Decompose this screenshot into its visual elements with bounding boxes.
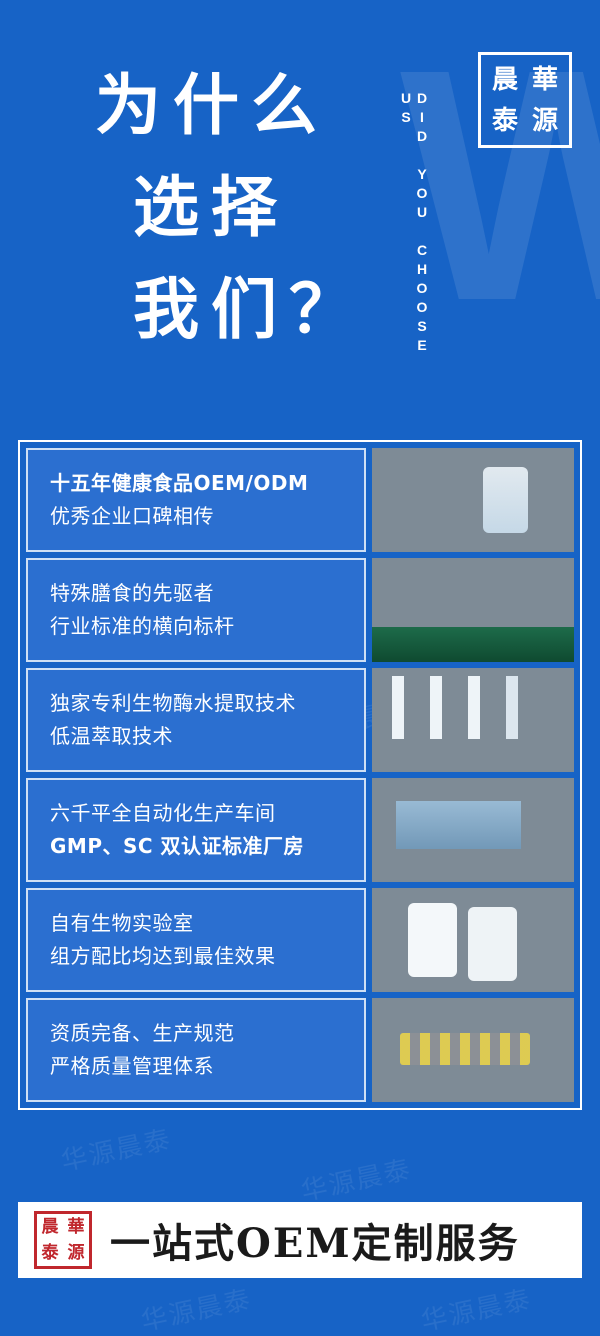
list-item: 特殊膳食的先驱者 行业标准的横向标杆 [26, 558, 574, 662]
list-item: 资质完备、生产规范 严格质量管理体系 [26, 998, 574, 1102]
vertical-english-caption: DID YOU CHOOSE US [398, 35, 424, 395]
headline-line-2: 选择 [95, 157, 385, 259]
reason-line-2: GMP、SC 双认证标准厂房 [50, 830, 364, 863]
brand-logo-seal: 晨 華 泰 源 [478, 52, 572, 148]
headline-line-3: 我们？ [95, 259, 385, 361]
reason-text-cell: 特殊膳食的先驱者 行业标准的横向标杆 [26, 558, 366, 662]
watermark-text: 华源晨泰 [417, 1279, 534, 1336]
photo-lab-technician [372, 448, 574, 552]
reason-text-cell: 资质完备、生产规范 严格质量管理体系 [26, 998, 366, 1102]
logo-char-2: 華 [532, 67, 558, 93]
photo-filling-line [372, 668, 574, 772]
reason-line-1: 六千平全自动化生产车间 [50, 797, 364, 830]
logo-char-4: 源 [532, 108, 558, 134]
reason-line-1: 独家专利生物酶水提取技术 [50, 687, 364, 720]
photo-lab-staff [372, 888, 574, 992]
reason-line-2: 组方配比均达到最佳效果 [50, 940, 364, 973]
poster-root: W 华源晨泰 华源晨泰 华源晨泰 华源晨泰 华源晨泰 华源晨泰 为什么 选择 我… [0, 0, 600, 1336]
logo-char-1: 晨 [492, 67, 518, 93]
list-item: 六千平全自动化生产车间 GMP、SC 双认证标准厂房 [26, 778, 574, 882]
watermark-text: 华源晨泰 [137, 1279, 254, 1336]
reason-text-cell: 十五年健康食品OEM/ODM 优秀企业口碑相传 [26, 448, 366, 552]
reason-text-cell: 自有生物实验室 组方配比均达到最佳效果 [26, 888, 366, 992]
reason-line-2: 优秀企业口碑相传 [50, 500, 364, 533]
reason-text-cell: 六千平全自动化生产车间 GMP、SC 双认证标准厂房 [26, 778, 366, 882]
list-item: 独家专利生物酶水提取技术 低温萃取技术 [26, 668, 574, 772]
page-title: 为什么 选择 我们？ [95, 55, 385, 361]
reason-line-2: 行业标准的横向标杆 [50, 610, 364, 643]
photo-clean-workshop [372, 778, 574, 882]
reasons-list: 十五年健康食品OEM/ODM 优秀企业口碑相传 特殊膳食的先驱者 行业标准的横向… [18, 440, 582, 1110]
footer-seal-char-4: 源 [68, 1245, 85, 1262]
reason-line-1: 特殊膳食的先驱者 [50, 577, 364, 610]
photo-tablet-packaging [372, 998, 574, 1102]
reason-line-2: 低温萃取技术 [50, 720, 364, 753]
poster-header: 为什么 选择 我们？ DID YOU CHOOSE US 晨 華 泰 源 [0, 0, 600, 430]
photo-conference-hall [372, 558, 574, 662]
reason-line-1: 十五年健康食品OEM/ODM [50, 467, 364, 500]
logo-char-3: 泰 [492, 108, 518, 134]
footer-seal-char-2: 華 [68, 1219, 85, 1236]
footer-slogan: 一站式OEM定制服务 [110, 1211, 520, 1269]
reason-line-1: 自有生物实验室 [50, 907, 364, 940]
reason-line-2: 严格质量管理体系 [50, 1050, 364, 1083]
footer-banner: 晨 華 泰 源 一站式OEM定制服务 [18, 1202, 582, 1278]
footer-seal-char-1: 晨 [42, 1219, 59, 1236]
footer-seal-char-3: 泰 [42, 1245, 59, 1262]
watermark-text: 华源晨泰 [57, 1119, 174, 1178]
reason-text-cell: 独家专利生物酶水提取技术 低温萃取技术 [26, 668, 366, 772]
watermark-text: 华源晨泰 [297, 1149, 414, 1208]
headline-line-1: 为什么 [95, 55, 385, 157]
footer-seal-logo: 晨 華 泰 源 [34, 1211, 92, 1269]
list-item: 十五年健康食品OEM/ODM 优秀企业口碑相传 [26, 448, 574, 552]
list-item: 自有生物实验室 组方配比均达到最佳效果 [26, 888, 574, 992]
reason-line-1: 资质完备、生产规范 [50, 1017, 364, 1050]
